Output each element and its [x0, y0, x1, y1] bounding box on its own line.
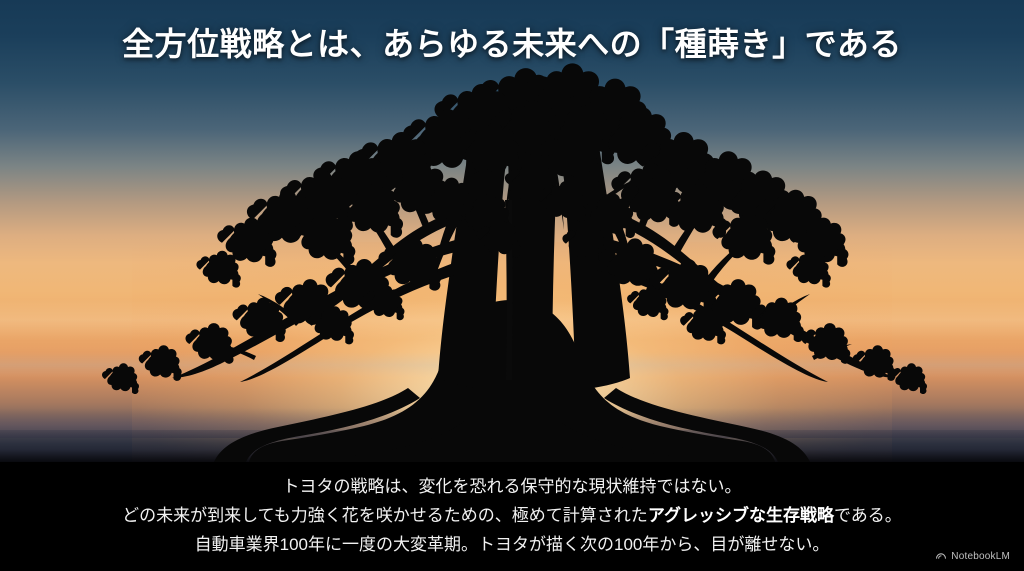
- slide-root: 全方位戦略とは、あらゆる未来への「種蒔き」である トヨタの戦略は、変化を恐れる保…: [0, 0, 1024, 571]
- caption-line-2-after: である。: [834, 506, 902, 525]
- caption-line-3: 自動車業界100年に一度の大変革期。トヨタが描く次の100年から、目が離せない。: [0, 530, 1024, 559]
- caption-line-2-emphasis: アグレッシブな生存戦略: [648, 506, 834, 525]
- page-title: 全方位戦略とは、あらゆる未来への「種蒔き」である: [122, 19, 902, 65]
- caption-line-2: どの未来が到来しても力強く花を咲かせるための、極めて計算されたアグレッシブな生存…: [0, 501, 1024, 530]
- caption-line-2-before: どの未来が到来しても力強く花を咲かせるための、極めて計算された: [122, 506, 648, 525]
- caption-line-1: トヨタの戦略は、変化を恐れる保守的な現状維持ではない。: [0, 472, 1024, 501]
- watermark-label: NotebookLM: [951, 551, 1010, 562]
- watermark: NotebookLM: [935, 550, 1010, 562]
- slide-title-bar: 全方位戦略とは、あらゆる未来への「種蒔き」である: [0, 0, 1024, 84]
- caption-block: トヨタの戦略は、変化を恐れる保守的な現状維持ではない。 どの未来が到来しても力強…: [0, 462, 1024, 571]
- notebooklm-icon: [935, 550, 947, 562]
